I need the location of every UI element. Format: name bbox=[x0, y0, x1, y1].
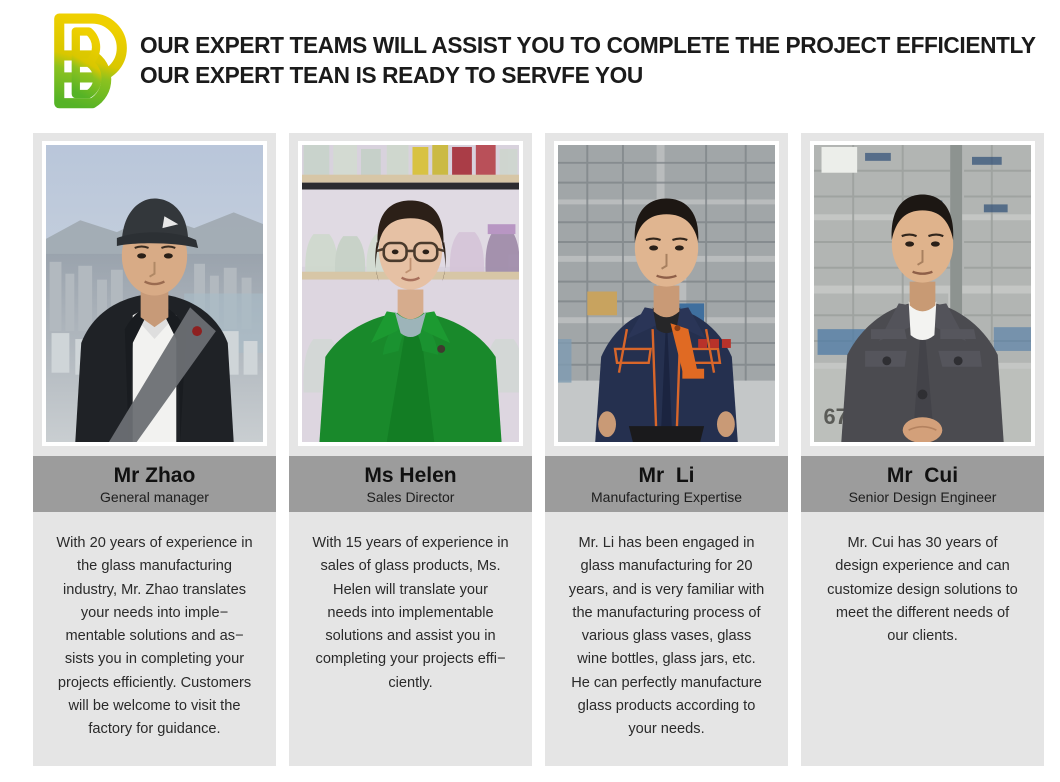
photo-frame bbox=[42, 141, 267, 446]
member-bio: With 15 years of experience in sales of … bbox=[300, 532, 521, 695]
portrait-mr-li bbox=[558, 145, 775, 442]
name-bar: Ms Helen Sales Director bbox=[289, 456, 532, 512]
portrait-mr-zhao bbox=[46, 145, 263, 442]
member-bio: With 20 years of experience in the glass… bbox=[44, 532, 265, 742]
member-role: Manufacturing Expertise bbox=[591, 488, 742, 506]
header-title-block: OUR EXPERT TEAMS WILL ASSIST YOU TO COMP… bbox=[140, 30, 1060, 90]
name-bar: Mr Cui Senior Design Engineer bbox=[801, 456, 1044, 512]
portrait-mr-cui: 67A bbox=[814, 145, 1031, 442]
member-bio: Mr. Li has been engaged in glass manufac… bbox=[556, 532, 777, 742]
team-card-mr-cui[interactable]: 67A bbox=[801, 133, 1044, 766]
member-role: Senior Design Engineer bbox=[849, 488, 997, 506]
team-intro-page: OUR EXPERT TEAMS WILL ASSIST YOU TO COMP… bbox=[0, 0, 1060, 782]
member-name: Mr Cui bbox=[887, 463, 958, 488]
member-name: Mr Li bbox=[639, 463, 695, 488]
member-bio: Mr. Cui has 30 years of design experienc… bbox=[812, 532, 1033, 648]
photo-frame bbox=[298, 141, 523, 446]
team-card-mr-li[interactable]: Mr Li Manufacturing Expertise Mr. Li has… bbox=[545, 133, 788, 766]
photo-frame bbox=[554, 141, 779, 446]
member-role: General manager bbox=[100, 488, 209, 506]
member-name: Ms Helen bbox=[364, 463, 456, 488]
page-header: OUR EXPERT TEAMS WILL ASSIST YOU TO COMP… bbox=[0, 0, 1060, 120]
header-title-line-2: OUR EXPERT TEAN IS READY TO SERVFE YOU bbox=[140, 60, 1036, 90]
name-bar: Mr Li Manufacturing Expertise bbox=[545, 456, 788, 512]
header-title-line-1: OUR EXPERT TEAMS WILL ASSIST YOU TO COMP… bbox=[140, 30, 1036, 60]
member-name: Mr Zhao bbox=[114, 463, 196, 488]
team-card-row: Mr Zhao General manager With 20 years of… bbox=[33, 133, 1027, 766]
name-bar: Mr Zhao General manager bbox=[33, 456, 276, 512]
company-logo bbox=[35, 5, 135, 115]
team-card-ms-helen[interactable]: Ms Helen Sales Director With 15 years of… bbox=[289, 133, 532, 766]
b-letter-logo-icon bbox=[39, 8, 131, 112]
member-role: Sales Director bbox=[367, 488, 455, 506]
portrait-ms-helen bbox=[302, 145, 519, 442]
team-card-mr-zhao[interactable]: Mr Zhao General manager With 20 years of… bbox=[33, 133, 276, 766]
photo-frame: 67A bbox=[810, 141, 1035, 446]
